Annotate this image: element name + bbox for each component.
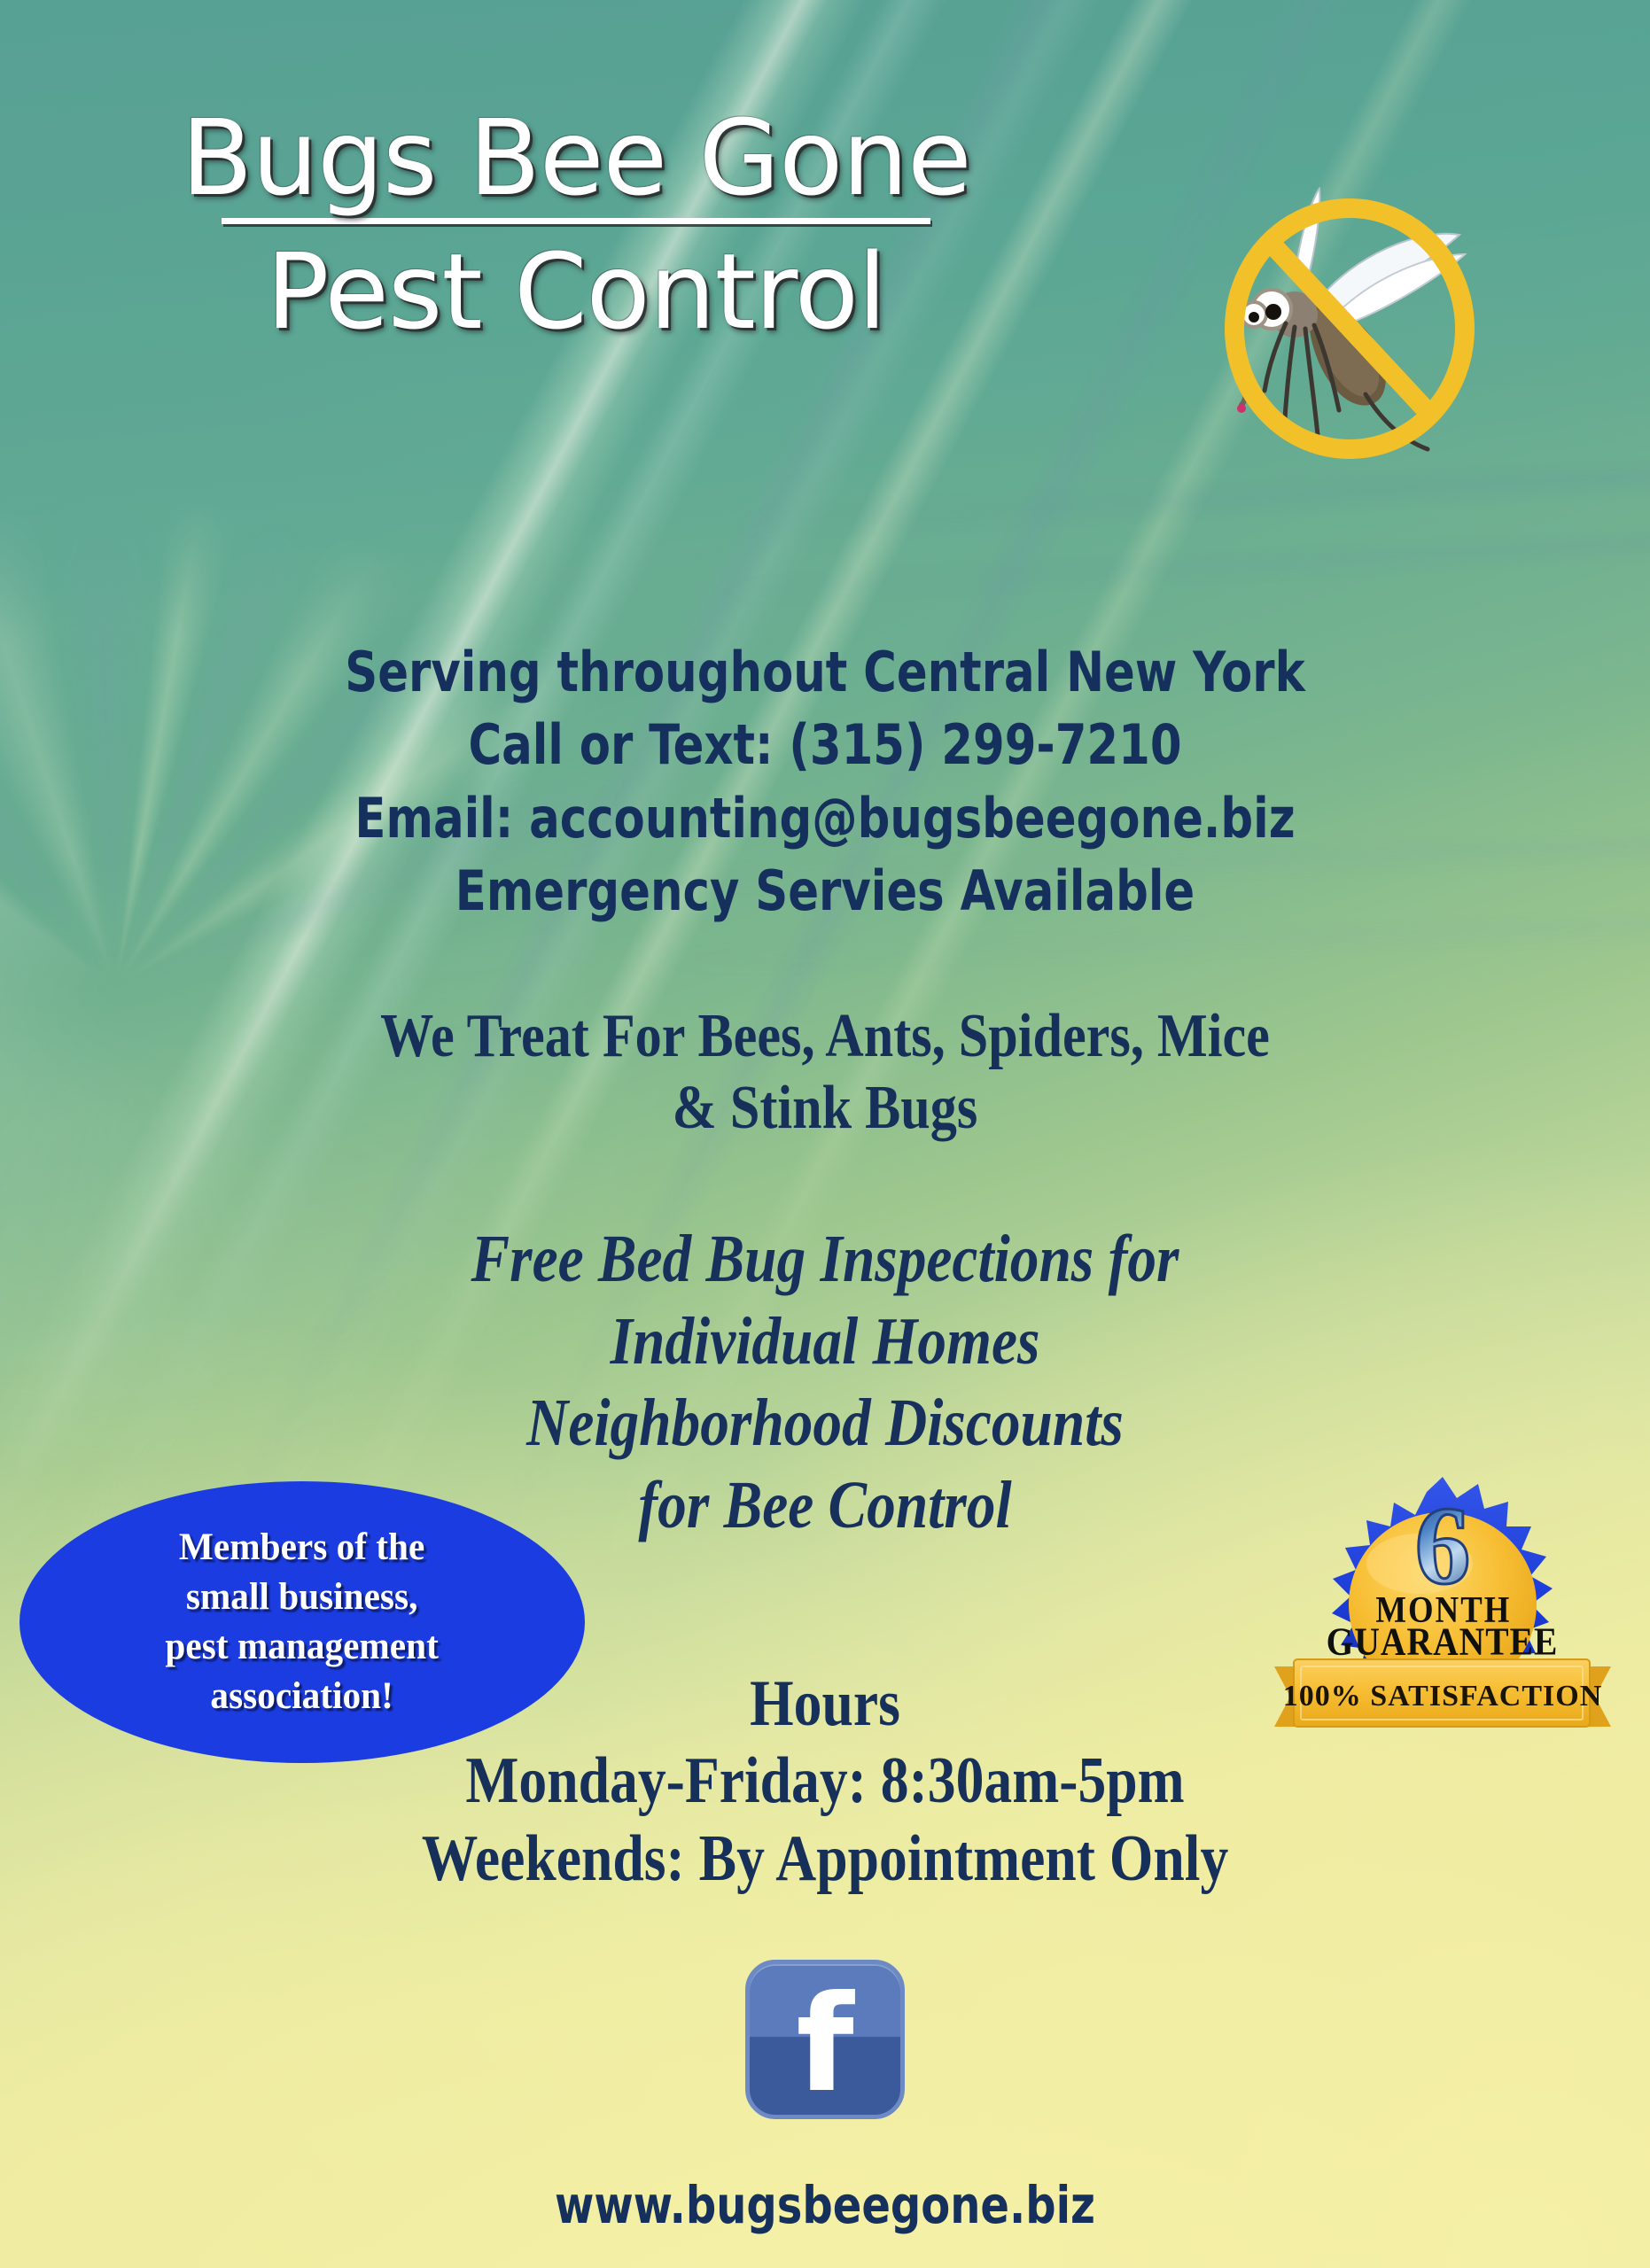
contact-block: Serving throughout Central New York Call… xyxy=(0,636,1650,928)
members-line-2: small business, xyxy=(166,1573,439,1622)
services-block: We Treat For Bees, Ants, Spiders, Mice &… xyxy=(0,1001,1650,1144)
services-line-2: & Stink Bugs xyxy=(115,1073,1534,1145)
hours-block: Hours Monday-Friday: 8:30am-5pm Weekends… xyxy=(0,1666,1650,1898)
services-line-1: We Treat For Bees, Ants, Spiders, Mice xyxy=(115,1001,1534,1073)
offer-line-3: Neighborhood Discounts xyxy=(115,1382,1534,1464)
offer-line-1: Free Bed Bug Inspections for xyxy=(115,1218,1534,1301)
flyer-poster: Bugs Bee Gone Pest Control xyxy=(0,0,1650,2268)
emergency-line: Emergency Servies Available xyxy=(66,855,1584,928)
website-url[interactable]: www.bugsbeegone.biz xyxy=(66,2175,1584,2235)
business-name-line-1: Bugs Bee Gone xyxy=(0,105,1152,211)
hours-weekday-line: Monday-Friday: 8:30am-5pm xyxy=(115,1743,1534,1820)
svg-text:GUARANTEE: GUARANTEE xyxy=(1327,1620,1559,1663)
phone-line[interactable]: Call or Text: (315) 299-7210 xyxy=(66,709,1584,781)
email-line[interactable]: Email: accounting@bugsbeegone.biz xyxy=(66,782,1584,855)
hours-weekend-line: Weekends: By Appointment Only xyxy=(115,1821,1534,1898)
hours-title: Hours xyxy=(115,1666,1534,1743)
facebook-tile[interactable]: f xyxy=(745,1960,905,2119)
title-block: Bugs Bee Gone Pest Control xyxy=(0,105,1152,346)
facebook-letter: f xyxy=(750,1978,900,2111)
offer-line-2: Individual Homes xyxy=(115,1301,1534,1383)
no-mosquito-icon xyxy=(1210,173,1484,465)
facebook-icon[interactable]: f xyxy=(745,1960,905,2119)
business-name-line-2: Pest Control xyxy=(0,238,1152,345)
members-line-3: pest management xyxy=(166,1622,439,1672)
service-area-line: Serving throughout Central New York xyxy=(66,636,1584,709)
members-line-1: Members of the xyxy=(166,1523,439,1573)
title-underline-rule xyxy=(222,218,930,224)
